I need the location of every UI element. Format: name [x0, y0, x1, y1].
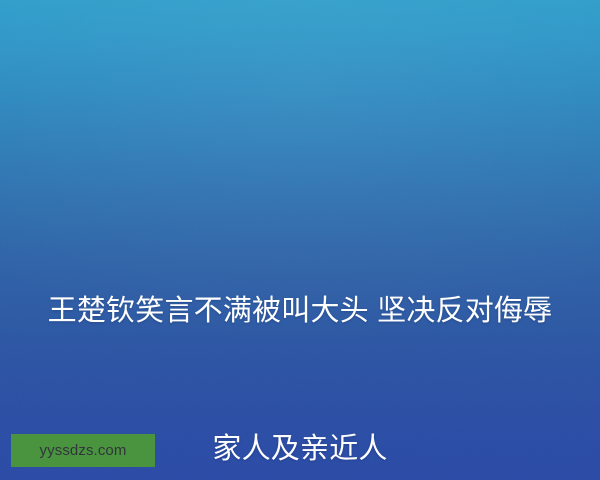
- watermark-badge: yyssdzs.com: [11, 434, 155, 467]
- headline-line-1: 王楚钦笑言不满被叫大头 坚决反对侮辱: [32, 288, 568, 334]
- watermark-label: yyssdzs.com: [40, 443, 127, 458]
- headline-card: 王楚钦笑言不满被叫大头 坚决反对侮辱 家人及亲近人 yyssdzs.com: [0, 0, 600, 480]
